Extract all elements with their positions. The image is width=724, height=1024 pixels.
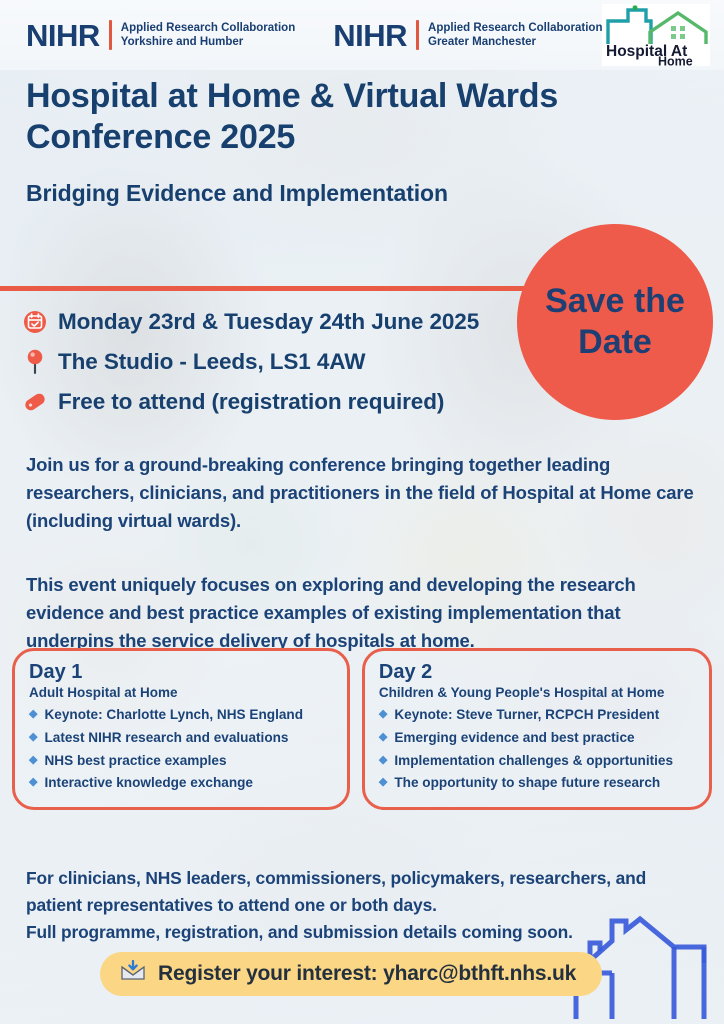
day-2-item-label: Implementation challenges & opportunitie… [394,750,673,773]
nihr-logo-subtitle: Applied Research Collaboration Greater M… [428,21,602,49]
day-2-title: Day 2 [379,661,697,684]
event-detail-price: Free to attend (registration required) [22,385,479,419]
location-pin-icon [22,348,48,376]
conference-poster: NIHR Applied Research Collaboration York… [0,0,724,1024]
coral-divider-rule [0,286,560,291]
day-boxes-container: Day 1 Adult Hospital at Home ◆ Keynote: … [12,648,712,810]
page-subtitle: Bridging Evidence and Implementation [26,180,694,207]
nihr-logo-yorkshire-humber: NIHR Applied Research Collaboration York… [26,20,295,51]
diamond-bullet-icon: ◆ [29,727,37,748]
day-2-box: Day 2 Children & Young People's Hospital… [362,648,712,810]
list-item: ◆ NHS best practice examples [29,750,335,773]
nihr-logo-subtitle: Applied Research Collaboration Yorkshire… [121,21,295,49]
hospital-house-icon: Hospital At Home [602,4,710,66]
day-1-title: Day 1 [29,661,335,684]
event-details-list: Monday 23rd & Tuesday 24th June 2025 The… [22,305,479,425]
nihr-divider-bar [416,20,419,50]
day-2-item-list: ◆ Keynote: Steve Turner, RCPCH President… [379,704,697,795]
day-2-item-label: Emerging evidence and best practice [394,727,634,750]
day-1-box: Day 1 Adult Hospital at Home ◆ Keynote: … [12,648,350,810]
poster-header: NIHR Applied Research Collaboration York… [0,0,724,70]
day-2-item-label: The opportunity to shape future research [394,772,660,795]
page-title: Hospital at Home & Virtual Wards Confere… [26,76,586,158]
diamond-bullet-icon: ◆ [379,750,387,771]
intro-paragraph: Join us for a ground-breaking conference… [26,451,702,535]
day-1-item-list: ◆ Keynote: Charlotte Lynch, NHS England … [29,704,335,795]
register-interest-label: Register your interest: yharc@bthft.nhs.… [158,962,576,986]
nihr-subtitle-line2: Yorkshire and Humber [121,35,295,49]
day-2-subtitle: Children & Young People's Hospital at Ho… [379,685,697,700]
nihr-subtitle-line1: Applied Research Collaboration [428,21,602,35]
list-item: ◆ Implementation challenges & opportunit… [379,750,697,773]
day-1-item-label: Keynote: Charlotte Lynch, NHS England [44,704,303,727]
list-item: ◆ Keynote: Charlotte Lynch, NHS England [29,704,335,727]
nihr-logo-greater-manchester: NIHR Applied Research Collaboration Grea… [333,20,602,51]
nihr-subtitle-line1: Applied Research Collaboration [121,21,295,35]
email-inbox-icon [120,960,146,987]
nihr-divider-bar [109,20,112,50]
list-item: ◆ The opportunity to shape future resear… [379,772,697,795]
diamond-bullet-icon: ◆ [29,772,37,793]
price-tag-icon [22,391,48,413]
list-item: ◆ Emerging evidence and best practice [379,727,697,750]
diamond-bullet-icon: ◆ [379,704,387,725]
event-detail-date: Monday 23rd & Tuesday 24th June 2025 [22,305,479,339]
save-the-date-label: Save the Date [517,281,713,364]
save-the-date-badge: Save the Date [517,224,713,420]
hospital-at-home-logo: Hospital At Home [602,4,710,66]
day-1-subtitle: Adult Hospital at Home [29,685,335,700]
event-detail-location: The Studio - Leeds, LS1 4AW [22,345,479,379]
day-2-item-label: Keynote: Steve Turner, RCPCH President [394,704,659,727]
list-item: ◆ Interactive knowledge exchange [29,772,335,795]
calendar-icon [22,310,48,334]
diamond-bullet-icon: ◆ [379,772,387,793]
event-location-text: The Studio - Leeds, LS1 4AW [58,349,365,375]
diamond-bullet-icon: ◆ [29,750,37,771]
hah-logo-line2: Home [658,55,693,67]
nihr-subtitle-line2: Greater Manchester [428,35,602,49]
diamond-bullet-icon: ◆ [29,704,37,725]
list-item: ◆ Keynote: Steve Turner, RCPCH President [379,704,697,727]
focus-paragraph: This event uniquely focuses on exploring… [26,571,702,655]
nihr-wordmark: NIHR [333,20,407,51]
day-1-item-label: Latest NIHR research and evaluations [44,727,288,750]
day-1-item-label: NHS best practice examples [44,750,226,773]
day-1-item-label: Interactive knowledge exchange [44,772,253,795]
event-date-text: Monday 23rd & Tuesday 24th June 2025 [58,309,479,335]
list-item: ◆ Latest NIHR research and evaluations [29,727,335,750]
register-interest-banner[interactable]: Register your interest: yharc@bthft.nhs.… [100,952,602,996]
diamond-bullet-icon: ◆ [379,727,387,748]
title-block: Hospital at Home & Virtual Wards Confere… [26,76,694,207]
event-price-text: Free to attend (registration required) [58,389,444,415]
nihr-wordmark: NIHR [26,20,100,51]
